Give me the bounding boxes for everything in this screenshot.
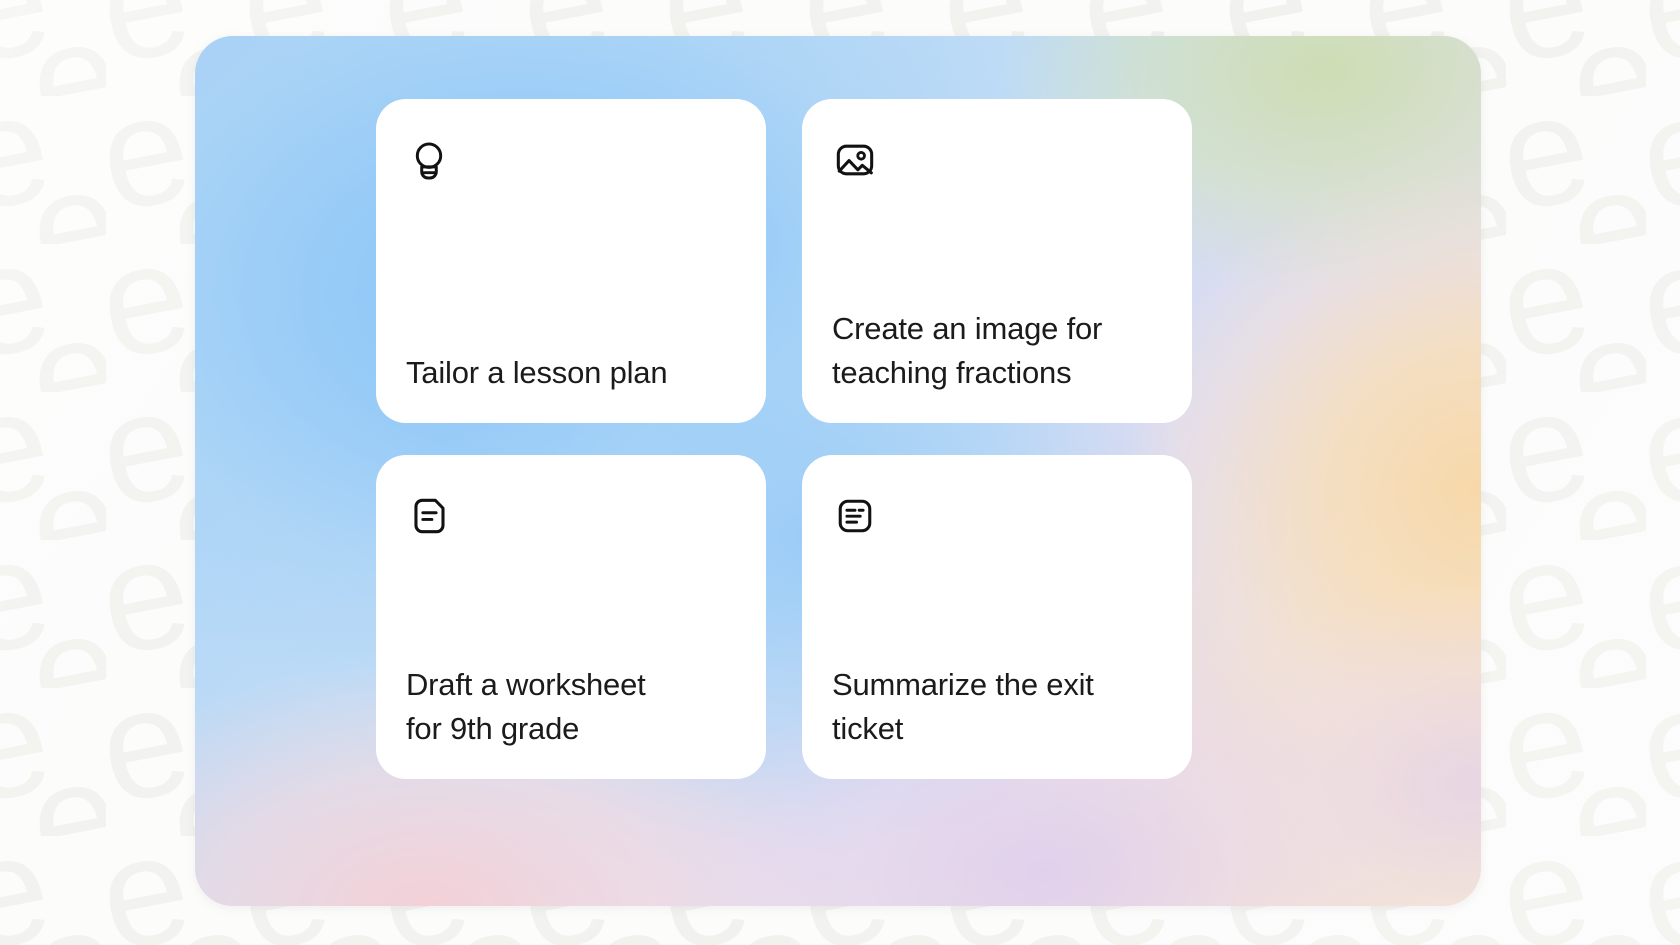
suggestion-card-label: Create an image for teaching fractions [832, 307, 1162, 395]
suggestion-card-label: Tailor a lesson plan [406, 351, 736, 395]
image-icon [832, 137, 878, 183]
suggestion-panel: Tailor a lesson plan Create an image for… [195, 36, 1481, 906]
suggestion-card-label: Draft a worksheet for 9th grade [406, 663, 736, 751]
article-summary-icon [832, 493, 878, 539]
suggestion-card-tailor-lesson-plan[interactable]: Tailor a lesson plan [376, 99, 766, 423]
suggestion-card-grid: Tailor a lesson plan Create an image for… [376, 99, 1192, 779]
suggestion-card-draft-worksheet[interactable]: Draft a worksheet for 9th grade [376, 455, 766, 779]
lightbulb-icon [406, 137, 452, 183]
document-text-icon [406, 493, 452, 539]
suggestion-card-summarize-exit-ticket[interactable]: Summarize the exit ticket [802, 455, 1192, 779]
suggestion-card-label: Summarize the exit ticket [832, 663, 1162, 751]
suggestion-card-create-image-fractions[interactable]: Create an image for teaching fractions [802, 99, 1192, 423]
